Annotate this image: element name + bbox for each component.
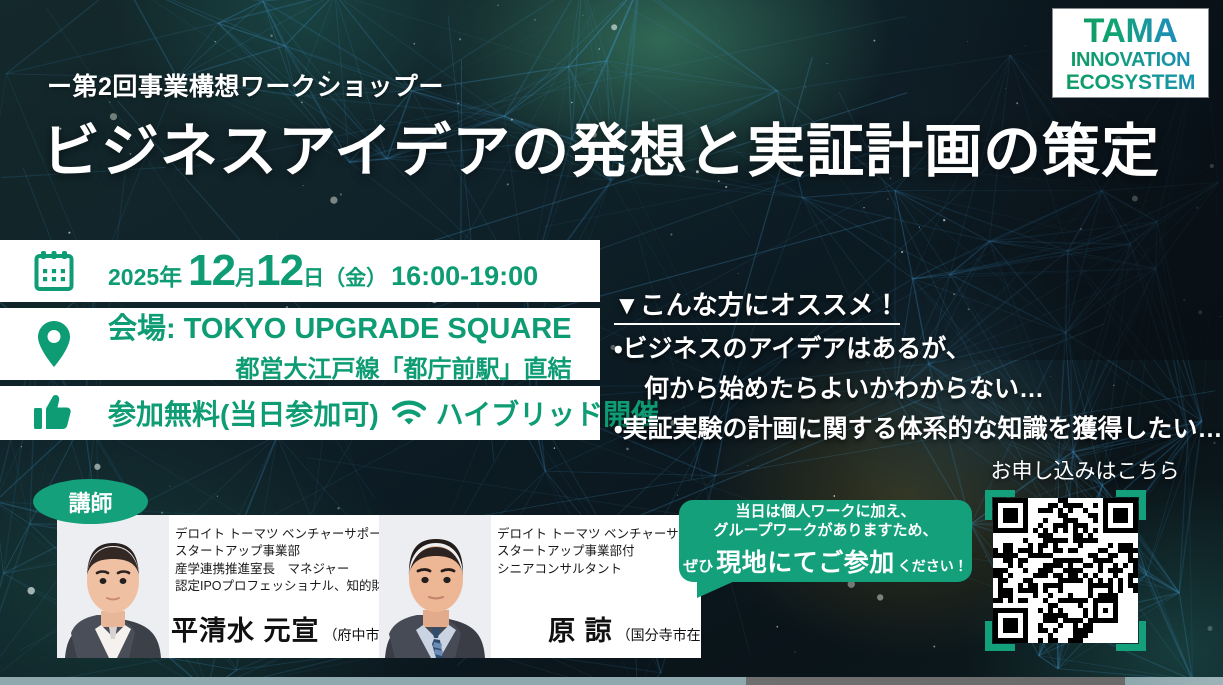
participation-callout: 当日は個人ワークに加え、 グループワークがありますため、 ぜひ 現地にてご参加 …: [679, 500, 972, 582]
venue-name: 会場: TOKYO UPGRADE SQUARE: [108, 305, 572, 347]
calendar-icon: [0, 250, 108, 292]
callout-line-3-prefix: ぜひ: [683, 555, 713, 576]
recommend-block: ▼こんな方にオススメ！ ・ビジネスのアイデアはあるが、 何から始めたらよいかわか…: [614, 285, 1223, 445]
info-row-venue: 会場: TOKYO UPGRADE SQUARE 都営大江戸線「都庁前駅」直結: [0, 308, 600, 380]
speaker-affiliation-line: デロイト トーマツ ベンチャーサポート㈱: [175, 526, 379, 543]
callout-line-3-emphasis: 現地にてご参加: [716, 543, 895, 579]
date-day-number: 12: [256, 246, 303, 296]
poster-canvas: TAMA INNOVATION ECOSYSTEM ー第2回事業構想ワークショッ…: [0, 0, 1223, 685]
recommend-item-1: ・ビジネスのアイデアはあるが、: [614, 329, 1223, 365]
qr-code-icon[interactable]: [993, 498, 1138, 643]
wifi-icon: [391, 399, 427, 427]
speaker-name: 平清水 元宣: [171, 609, 320, 648]
callout-line-3: ぜひ 現地にてご参加 ください！: [683, 543, 968, 579]
qr-code-block[interactable]: [985, 490, 1146, 651]
speaker-photo-2: [379, 515, 491, 658]
callout-line-1: 当日は個人ワークに加え、: [735, 503, 915, 522]
speaker-card-2: デロイト トーマツ ベンチャーサポート㈱ スタートアップ事業部付 シニアコンサル…: [379, 515, 701, 658]
speaker-badge: 講師: [33, 479, 148, 524]
speaker-affiliation-line: スタートアップ事業部: [175, 543, 379, 560]
recommend-heading: ▼こんな方にオススメ！: [614, 285, 900, 325]
thumbs-up-icon: [0, 395, 108, 431]
callout-line-3-suffix: ください！: [898, 556, 968, 576]
date-weekday: （金）: [324, 262, 387, 292]
speaker-card-1: デロイト トーマツ ベンチャーサポート㈱ スタートアップ事業部 産学連携推進室長…: [57, 515, 379, 658]
speaker-city: （国分寺市在住）: [617, 625, 701, 645]
speaker-city: （府中市在住）: [324, 625, 379, 645]
date-year: 2025年: [108, 258, 182, 292]
fee-and-format: 参加無料(当日参加可) ハイブリッド開催: [108, 393, 659, 433]
date-month-number: 12: [188, 246, 235, 296]
speaker-photo-1: [57, 515, 169, 658]
date-month-unit: 月: [235, 262, 256, 292]
recommend-item-3: ・実証実験の計画に関する体系的な知識を獲得したい…: [614, 409, 1223, 445]
logo-line-tama: TAMA: [1084, 14, 1178, 48]
venue-block: 会場: TOKYO UPGRADE SQUARE 都営大江戸線「都庁前駅」直結: [108, 305, 572, 384]
info-row-date: 2025年 12 月 12 日 （金） 16:00-19:00: [0, 240, 600, 302]
event-time: 16:00-19:00: [391, 261, 538, 292]
event-kicker: ー第2回事業構想ワークショップー: [47, 67, 444, 103]
logo-line-ecosystem: ECOSYSTEM: [1066, 72, 1195, 93]
callout-line-2: グループワークがありますため、: [713, 522, 937, 541]
speaker-affiliation-line: 認定IPOプロフェッショナル、知的財産修士: [175, 578, 379, 595]
speaker-affiliation-line: デロイト トーマツ ベンチャーサポート㈱: [497, 526, 701, 543]
fee-text: 参加無料(当日参加可): [108, 393, 379, 433]
bottom-edge-bar: [0, 677, 1223, 685]
speaker-info-2: デロイト トーマツ ベンチャーサポート㈱ スタートアップ事業部付 シニアコンサル…: [491, 515, 701, 658]
speaker-affiliation-line: シニアコンサルタント: [497, 561, 701, 578]
event-date-time: 2025年 12 月 12 日 （金） 16:00-19:00: [108, 246, 538, 296]
speaker-name-row-2: 原 諒 （国分寺市在住）: [548, 609, 701, 648]
logo-line-innovation: INNOVATION: [1071, 50, 1191, 70]
speaker-affiliation-line: スタートアップ事業部付: [497, 543, 701, 560]
tama-logo: TAMA INNOVATION ECOSYSTEM: [1053, 9, 1208, 97]
speaker-info-1: デロイト トーマツ ベンチャーサポート㈱ スタートアップ事業部 産学連携推進室長…: [169, 515, 379, 658]
speaker-name: 原 諒: [548, 609, 613, 648]
page-title: ビジネスアイデアの発想と実証計画の策定: [42, 104, 1160, 188]
speaker-affiliation-line: 産学連携推進室長 マネジャー: [175, 561, 379, 578]
map-pin-icon: [0, 320, 108, 368]
speaker-name-row-1: 平清水 元宣 （府中市在住）: [171, 609, 379, 648]
qr-label: お申し込みはこちら: [985, 455, 1185, 485]
info-row-fee: 参加無料(当日参加可) ハイブリッド開催: [0, 386, 600, 440]
date-day-unit: 日: [303, 262, 324, 292]
venue-access: 都営大江戸線「都庁前駅」直結: [108, 349, 572, 384]
recommend-item-2: 何から始めたらよいかわからない…: [614, 369, 1223, 405]
